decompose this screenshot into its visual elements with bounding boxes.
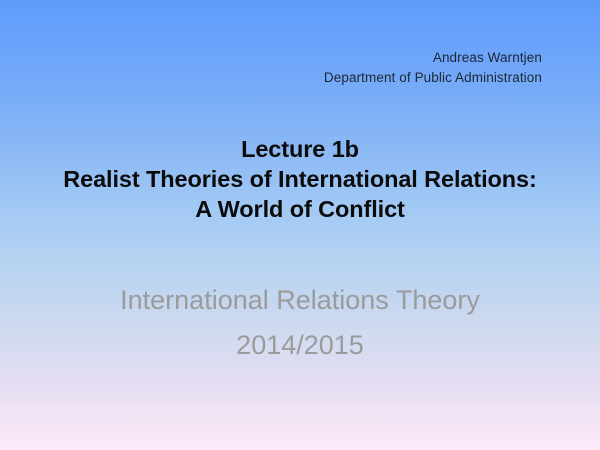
- slide-title: Lecture 1b Realist Theories of Internati…: [0, 134, 600, 224]
- title-line-main: Realist Theories of International Relati…: [0, 164, 600, 194]
- presentation-title-slide: Andreas Warntjen Department of Public Ad…: [0, 0, 600, 450]
- author-affiliation: Department of Public Administration: [0, 68, 542, 88]
- title-line-sub: A World of Conflict: [0, 194, 600, 224]
- author-name: Andreas Warntjen: [0, 48, 542, 68]
- slide-subtitle: International Relations Theory 2014/2015: [0, 278, 600, 368]
- subtitle-course-name: International Relations Theory: [0, 278, 600, 323]
- author-affiliation-block: Andreas Warntjen Department of Public Ad…: [0, 48, 542, 88]
- subtitle-academic-year: 2014/2015: [0, 323, 600, 368]
- title-line-lecture-number: Lecture 1b: [0, 134, 600, 164]
